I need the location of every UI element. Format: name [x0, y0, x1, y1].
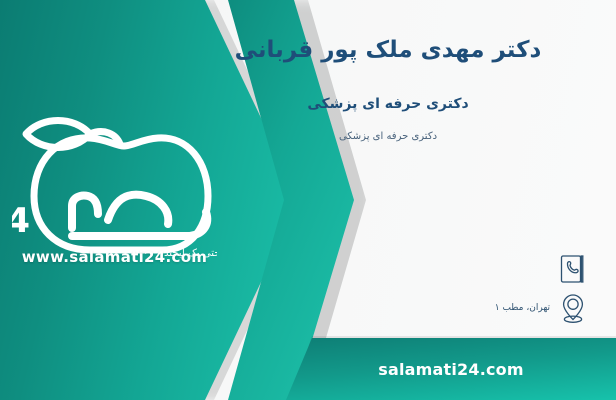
salamati24-logo: 24 براحتی یک لبخند: [12, 100, 217, 270]
specialty-primary: دکتری حرفه ای پزشکی: [178, 96, 598, 112]
contact-phone-row[interactable]: [556, 252, 590, 286]
contact-location-row[interactable]: تهران، مطب ۱: [495, 291, 590, 325]
apple-icon: 24 براحتی یک لبخند: [12, 100, 217, 270]
business-card: 24 براحتی یک لبخند www.salamati24.com دک…: [0, 0, 616, 400]
specialty-secondary: دکتری حرفه ای پزشکی: [178, 131, 598, 142]
logo-website-url: www.salamati24.com: [12, 248, 217, 266]
phonebook-icon[interactable]: [556, 252, 590, 286]
map-pin-icon[interactable]: [556, 291, 590, 325]
logo-number-24: 24: [12, 201, 30, 241]
logo-number-text: 24: [12, 201, 30, 241]
doctor-name-title: دکتر مهدی ملک پور قربانی: [178, 36, 598, 66]
location-label: تهران، مطب ۱: [495, 303, 550, 313]
footer-website-url[interactable]: salamati24.com: [286, 338, 616, 400]
